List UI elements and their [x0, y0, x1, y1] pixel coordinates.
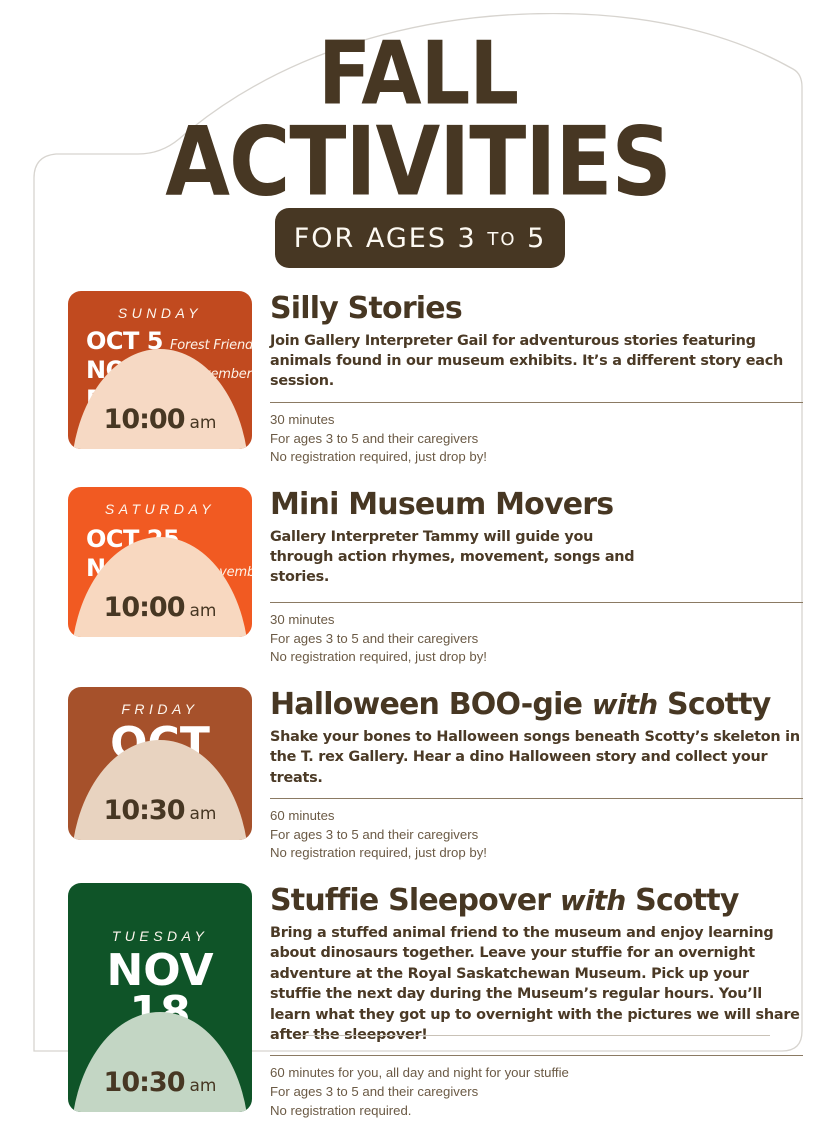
- meta-ages: For ages 3 to 5 and their caregivers: [270, 1083, 803, 1102]
- day-of-week-label: SATURDAY: [68, 501, 252, 517]
- event-row-stuffie-sleepover: TUESDAY NOV 18 10:30am Stuffie Sleepover…: [68, 883, 803, 1120]
- meta-ages: For ages 3 to 5 and their caregivers: [270, 430, 803, 449]
- section-divider: [270, 798, 803, 799]
- badge-prefix: FOR AGES 3: [294, 223, 488, 254]
- event-title-main: Halloween BOO-gie: [270, 687, 582, 722]
- event-title-connector: with: [592, 688, 658, 721]
- time-display: 10:30am: [68, 1067, 252, 1098]
- meta-registration: No registration required, just drop by!: [270, 648, 803, 667]
- event-description: Bring a stuffed animal friend to the mus…: [270, 923, 803, 1046]
- event-row-halloween-boo-gie: FRIDAY OCT 31 10:30am Halloween BOO-gie …: [68, 687, 803, 863]
- meta-ages: For ages 3 to 5 and their caregivers: [270, 826, 803, 845]
- poster-title: FALL ACTIVITIES: [33, 35, 803, 194]
- event-title: Mini Museum Movers: [270, 489, 803, 521]
- time-value: 10:30: [104, 1067, 185, 1098]
- age-range-label: FOR AGES 3 TO 5: [294, 223, 547, 254]
- event-row-mini-museum-movers: SATURDAY OCT 25 NOV 29 Dinovember Editio…: [68, 487, 803, 667]
- event-title-tail: Scotty: [667, 687, 770, 722]
- time-ampm: am: [189, 413, 216, 433]
- meta-duration: 30 minutes: [270, 411, 803, 430]
- event-title: Stuffie Sleepover with Scotty: [270, 885, 803, 917]
- event-description: Gallery Interpreter Tammy will guide you…: [270, 527, 640, 588]
- day-of-week-label: FRIDAY: [68, 701, 252, 717]
- event-title-main: Stuffie Sleepover: [270, 883, 550, 918]
- date-card-silly-stories: SUNDAY OCT 5 Forest Friends Fall Picnic …: [68, 291, 252, 449]
- poster: FALL ACTIVITIES FOR AGES 3 TO 5 SUNDAY O…: [33, 13, 803, 1052]
- event-title-main: Mini Museum Movers: [270, 487, 613, 522]
- section-divider: [270, 602, 803, 603]
- age-range-badge: FOR AGES 3 TO 5: [275, 208, 565, 268]
- section-divider: [270, 1055, 803, 1056]
- event-title-connector: with: [560, 884, 626, 917]
- title-line-activities: ACTIVITIES: [25, 119, 810, 207]
- footer-divider: [300, 1035, 770, 1036]
- event-list: SUNDAY OCT 5 Forest Friends Fall Picnic …: [68, 291, 803, 1141]
- meta-ages: For ages 3 to 5 and their caregivers: [270, 630, 803, 649]
- big-month-label: NOV: [68, 950, 252, 992]
- event-detail-halloween-boo-gie: Halloween BOO-gie with Scotty Shake your…: [252, 687, 803, 863]
- date-card-halloween-boo-gie: FRIDAY OCT 31 10:30am: [68, 687, 252, 840]
- event-detail-stuffie-sleepover: Stuffie Sleepover with Scotty Bring a st…: [252, 883, 803, 1120]
- badge-suffix: 5: [517, 223, 547, 254]
- event-meta: 30 minutes For ages 3 to 5 and their car…: [270, 411, 803, 467]
- day-of-week-label: SUNDAY: [68, 305, 252, 321]
- time-display: 10:30am: [68, 795, 252, 826]
- time-value: 10:00: [104, 592, 185, 623]
- event-title: Halloween BOO-gie with Scotty: [270, 689, 803, 721]
- meta-duration: 60 minutes for you, all day and night fo…: [270, 1064, 803, 1083]
- meta-registration: No registration required, just drop by!: [270, 448, 803, 467]
- event-row-silly-stories: SUNDAY OCT 5 Forest Friends Fall Picnic …: [68, 291, 803, 467]
- badge-to: TO: [487, 229, 516, 250]
- event-detail-mini-museum-movers: Mini Museum Movers Gallery Interpreter T…: [252, 487, 803, 667]
- time-display: 10:00am: [68, 592, 252, 623]
- meta-registration: No registration required, just drop by!: [270, 844, 803, 863]
- meta-registration: No registration required.: [270, 1102, 803, 1121]
- time-value: 10:00: [104, 404, 185, 435]
- time-ampm: am: [189, 1076, 216, 1096]
- event-description: Shake your bones to Halloween songs bene…: [270, 727, 803, 788]
- time-value: 10:30: [104, 795, 185, 826]
- time-ampm: am: [189, 601, 216, 621]
- event-title: Silly Stories: [270, 293, 803, 325]
- event-description: Join Gallery Interpreter Gail for advent…: [270, 331, 803, 392]
- title-line-fall: FALL: [33, 35, 803, 115]
- meta-duration: 30 minutes: [270, 611, 803, 630]
- time-display: 10:00am: [68, 404, 252, 435]
- date-card-stuffie-sleepover: TUESDAY NOV 18 10:30am: [68, 883, 252, 1112]
- event-meta: 60 minutes For ages 3 to 5 and their car…: [270, 807, 803, 863]
- day-of-week-label: TUESDAY: [68, 928, 252, 944]
- event-title-main: Silly Stories: [270, 291, 462, 326]
- event-meta: 30 minutes For ages 3 to 5 and their car…: [270, 611, 803, 667]
- time-ampm: am: [189, 804, 216, 824]
- date-note: Forest Friends Fall Picnic: [170, 338, 252, 353]
- date-card-mini-museum-movers: SATURDAY OCT 25 NOV 29 Dinovember Editio…: [68, 487, 252, 637]
- event-title-tail: Scotty: [635, 883, 738, 918]
- event-detail-silly-stories: Silly Stories Join Gallery Interpreter G…: [252, 291, 803, 467]
- section-divider: [270, 402, 803, 403]
- meta-duration: 60 minutes: [270, 807, 803, 826]
- event-meta: 60 minutes for you, all day and night fo…: [270, 1064, 803, 1120]
